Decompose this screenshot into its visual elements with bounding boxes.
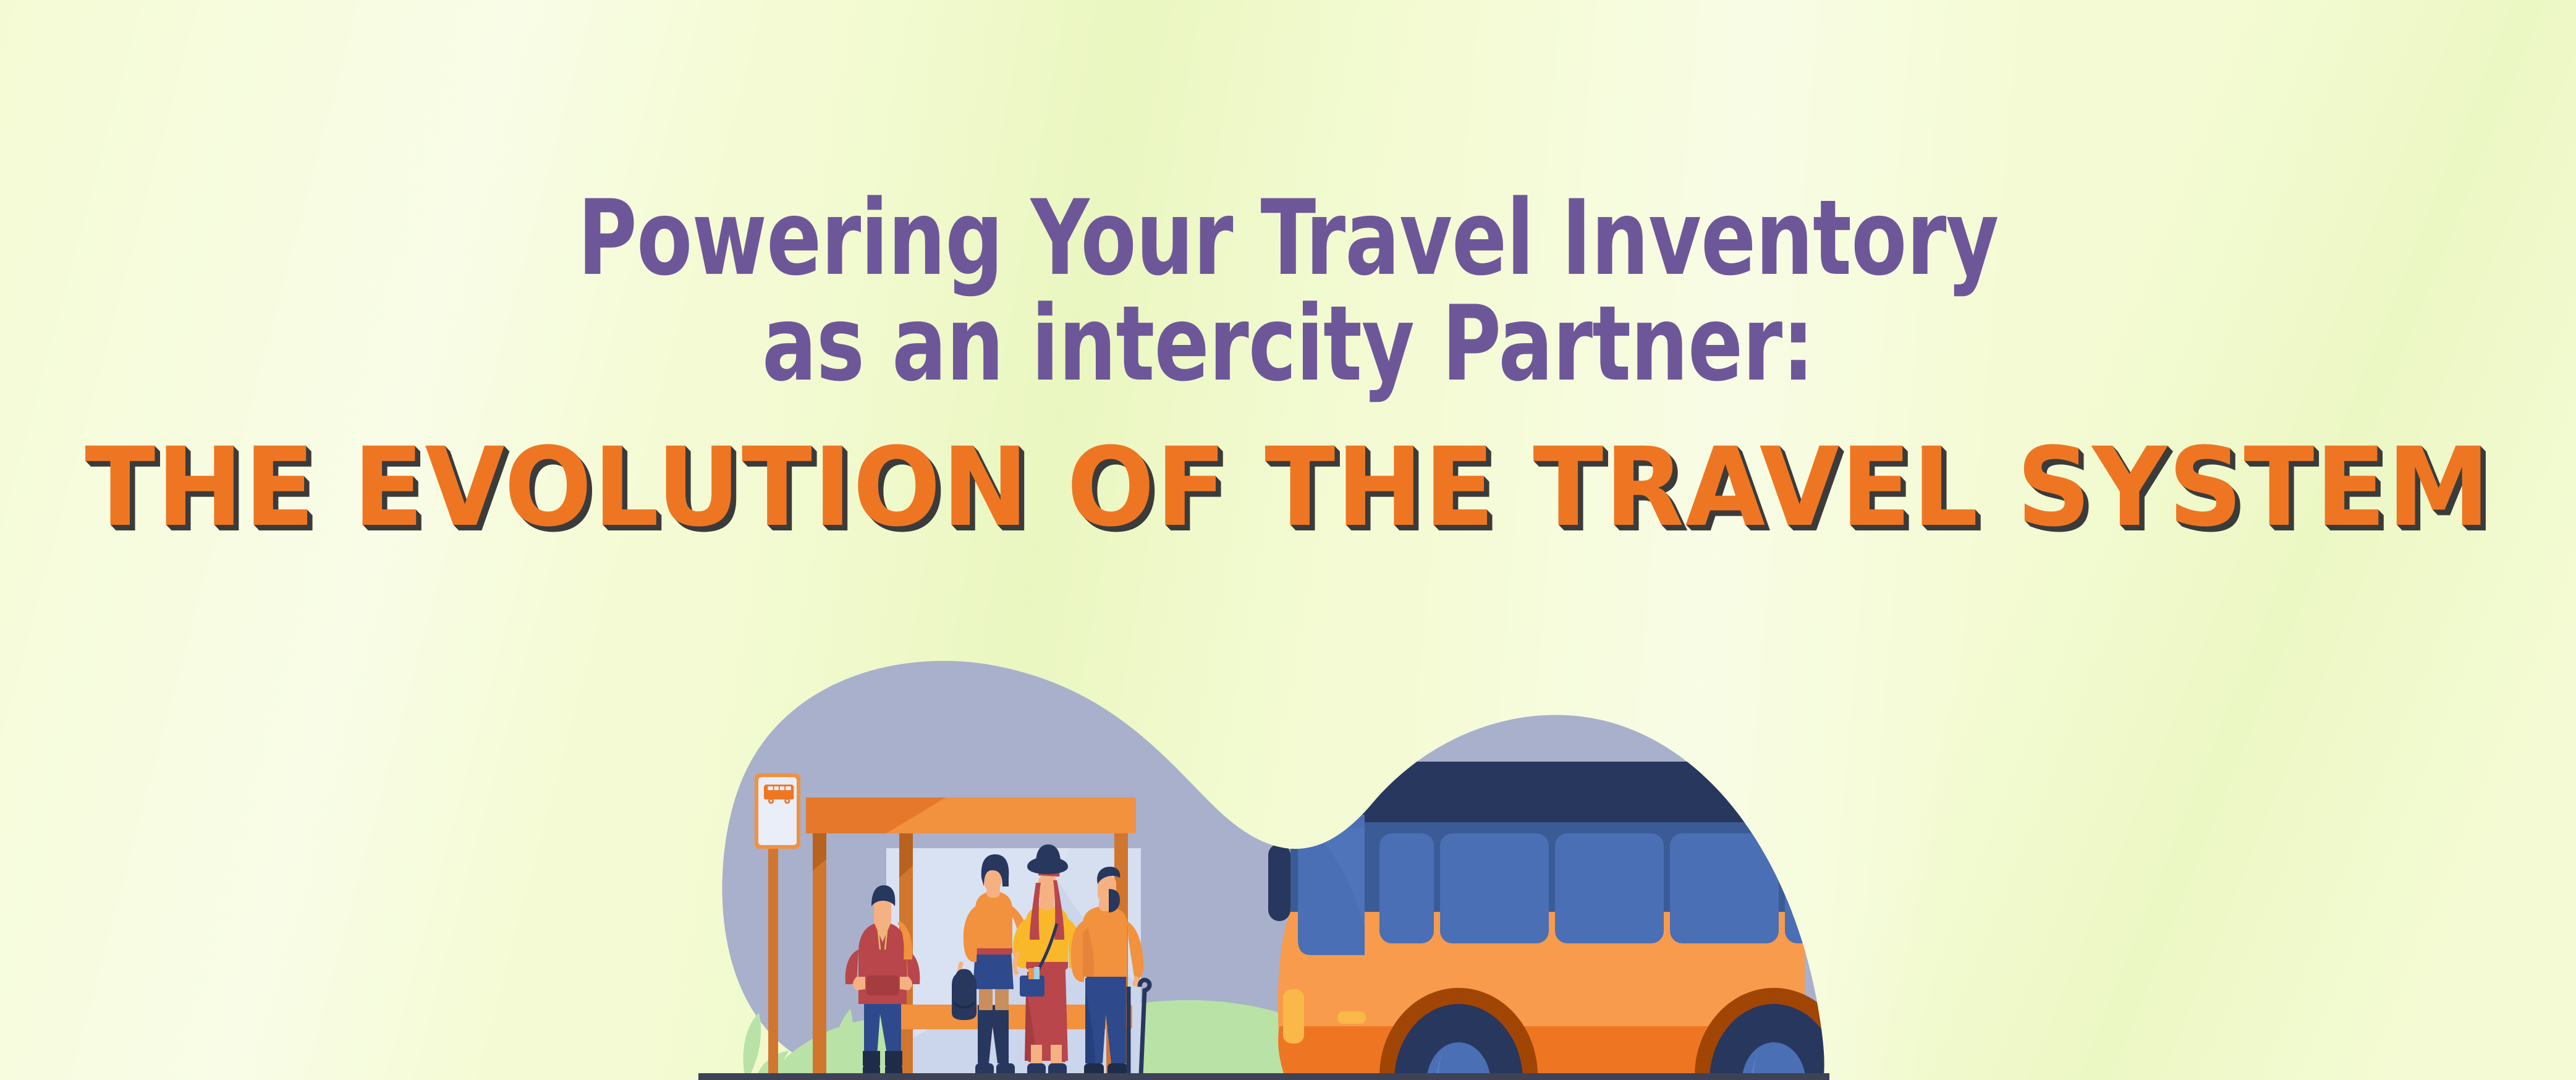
bus [1268,762,1853,1080]
page-title-primary: Powering Your Travel Inventory as an int… [167,185,2409,398]
heading-block: Powering Your Travel Inventory as an int… [0,0,2576,542]
bob-woman-skirt [973,951,1014,989]
ground-line [698,1073,1829,1080]
hoodie-man-head [874,898,891,927]
bus-windows [1379,833,1828,943]
sign-post [768,836,778,1080]
bob-woman-top [975,891,1012,948]
bus-headlamp [1283,989,1304,1044]
page-title-secondary: THE EVOLUTION OF THE TRAVEL SYSTEM [64,433,2512,542]
